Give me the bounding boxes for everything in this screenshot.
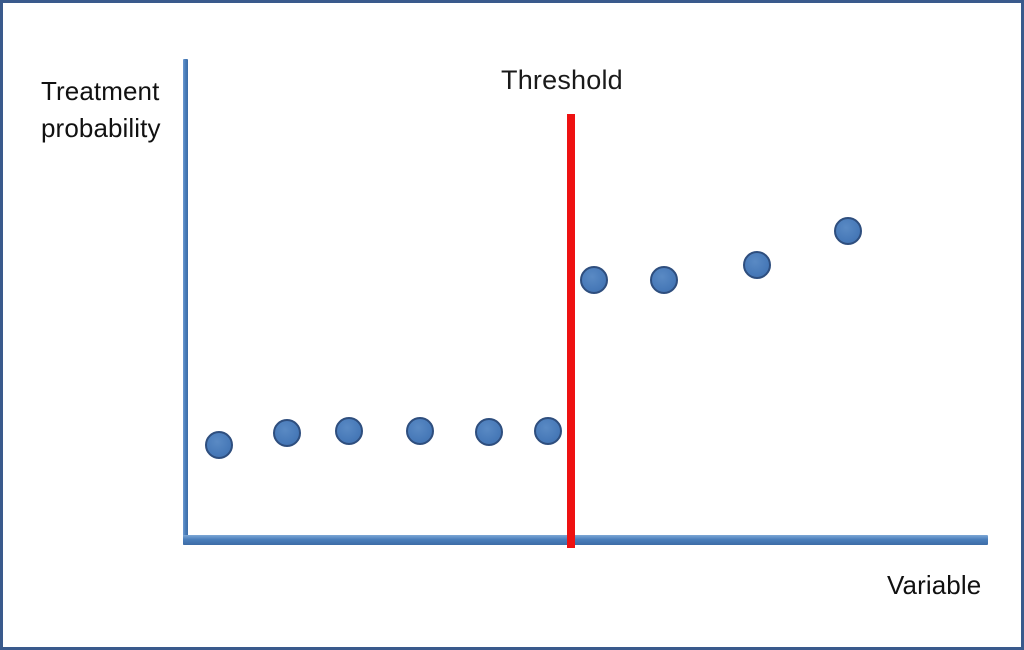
data-point-below-threshold-5 bbox=[475, 418, 503, 446]
data-point-above-threshold-2 bbox=[650, 266, 678, 294]
data-point-above-threshold-4 bbox=[834, 217, 862, 245]
data-point-above-threshold-1 bbox=[580, 266, 608, 294]
figure-canvas: Treatment probability Variable Threshold bbox=[0, 0, 1024, 650]
data-point-below-threshold-2 bbox=[273, 419, 301, 447]
data-point-below-threshold-6 bbox=[534, 417, 562, 445]
data-point-below-threshold-1 bbox=[205, 431, 233, 459]
data-point-below-threshold-3 bbox=[335, 417, 363, 445]
scatter-plot-area bbox=[3, 3, 1021, 647]
data-point-below-threshold-4 bbox=[406, 417, 434, 445]
data-point-above-threshold-3 bbox=[743, 251, 771, 279]
